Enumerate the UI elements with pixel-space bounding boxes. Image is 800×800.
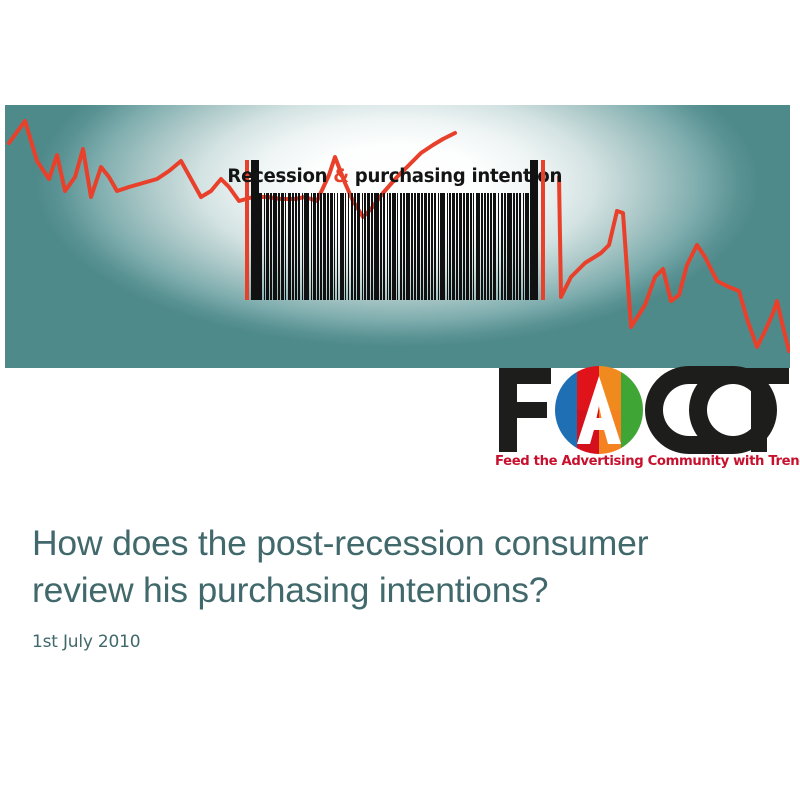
chart-series-right xyxy=(559,177,789,351)
barcode-bar xyxy=(447,193,449,300)
fact-logo-tagline: Feed the Advertising Community with Tren… xyxy=(495,454,790,469)
barcode-bar xyxy=(484,193,486,300)
page-title: How does the post-recession consumer rev… xyxy=(32,520,752,614)
barcode-bar xyxy=(424,193,427,300)
barcode-bar xyxy=(317,193,319,300)
barcode-bar xyxy=(434,193,436,300)
barcode-bar xyxy=(273,193,277,300)
barcode-bar xyxy=(473,193,475,300)
barcode-bar xyxy=(452,193,454,300)
barcode-bar xyxy=(330,193,332,300)
barcode-bar xyxy=(519,193,521,300)
barcode-bar xyxy=(389,193,391,300)
barcode-bar xyxy=(351,193,353,300)
barcode-bar xyxy=(463,193,465,300)
barcode-bar xyxy=(481,193,483,300)
barcode-bar xyxy=(431,193,433,300)
barcode-bar xyxy=(411,193,413,300)
barcode-right-black-guard xyxy=(530,160,538,300)
barcode-bar xyxy=(337,193,339,300)
barcode-bar xyxy=(334,193,336,300)
barcode-bar xyxy=(259,193,262,300)
barcode-bar xyxy=(403,193,405,300)
barcode-bar xyxy=(493,193,496,300)
fact-letter-f xyxy=(499,368,551,452)
barcode-bar xyxy=(513,193,515,300)
barcode-bar xyxy=(421,193,423,300)
barcode-bar xyxy=(278,193,280,300)
barcode-bar xyxy=(292,193,294,300)
barcode-bar xyxy=(281,193,283,300)
barcode-bar xyxy=(417,193,419,300)
barcode-bar xyxy=(327,193,329,300)
barcode-bar xyxy=(285,193,287,300)
barcode-bar xyxy=(501,193,503,300)
barcode-bar xyxy=(311,193,313,300)
barcode-bar xyxy=(487,193,489,300)
barcode-bar xyxy=(295,193,297,300)
barcode-bar xyxy=(348,193,350,300)
barcode-bar xyxy=(440,193,445,300)
barcode-bar xyxy=(490,193,492,300)
barcode-bar xyxy=(525,193,528,300)
fact-letter-a xyxy=(555,366,643,454)
barcode-bar xyxy=(406,193,410,300)
barcode-bar xyxy=(466,193,468,300)
barcode-bar xyxy=(323,193,326,300)
barcode-bar xyxy=(266,193,268,300)
barcode-bar xyxy=(313,193,315,300)
barcode-bar xyxy=(456,193,458,300)
barcode-bar xyxy=(507,193,512,300)
barcode-bar xyxy=(498,193,500,300)
barcode-bar xyxy=(345,193,347,300)
barcode-bar xyxy=(298,193,300,300)
barcode-bar xyxy=(383,193,385,300)
barcode-title-text: Recession & purchasing intention xyxy=(227,166,562,187)
barcode-bar xyxy=(380,193,382,300)
barcode-bar xyxy=(367,193,369,300)
barcode-bar xyxy=(270,193,272,300)
barcode-bar xyxy=(392,193,395,300)
barcode-bar xyxy=(304,193,309,300)
barcode-bar xyxy=(354,193,356,300)
barcode-bar xyxy=(400,193,402,300)
barcode-bar xyxy=(264,193,266,300)
barcode-bar xyxy=(340,193,344,300)
barcode-bar xyxy=(516,193,518,300)
fact-logo-mark xyxy=(493,366,790,454)
barcode-bar xyxy=(288,193,291,300)
barcode-bar xyxy=(523,193,525,300)
barcode-bar xyxy=(470,193,472,300)
barcode-bar xyxy=(428,193,430,300)
barcode-bar xyxy=(438,193,440,300)
barcode-bar xyxy=(504,193,506,300)
barcode-bar xyxy=(476,193,480,300)
barcode-right-red-guard xyxy=(541,160,545,300)
barcode-bar xyxy=(320,193,322,300)
page-date: 1st July 2010 xyxy=(32,632,752,652)
barcode-bar xyxy=(371,193,373,300)
fact-logo: Feed the Advertising Community with Tren… xyxy=(493,366,790,478)
barcode-bar xyxy=(362,193,364,300)
barcode-bar xyxy=(459,193,462,300)
title-block: How does the post-recession consumer rev… xyxy=(32,520,752,652)
barcode-bar xyxy=(397,193,399,300)
barcode-bar xyxy=(449,193,451,300)
barcode-ampersand: & xyxy=(333,166,349,187)
barcode-graphic: Recession & purchasing intention xyxy=(245,160,550,300)
barcode-bar xyxy=(357,193,360,300)
barcode-bar xyxy=(374,193,379,300)
barcode-bar xyxy=(302,193,304,300)
barcode-bar xyxy=(387,193,389,300)
barcode-bar xyxy=(414,193,416,300)
barcode-bar xyxy=(364,193,366,300)
barcode-title-strip: Recession & purchasing intention xyxy=(259,160,530,192)
barcode-bars xyxy=(259,193,530,300)
